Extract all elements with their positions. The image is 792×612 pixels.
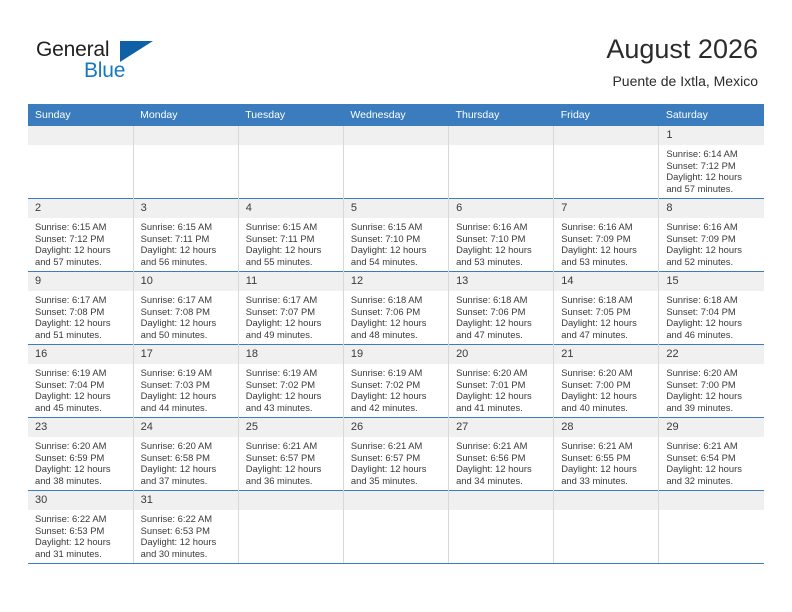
sunrise-text: Sunrise: 6:19 AM	[246, 367, 337, 379]
sunrise-text: Sunrise: 6:20 AM	[561, 367, 652, 379]
calendar-day-cell[interactable]: 11Sunrise: 6:17 AMSunset: 7:07 PMDayligh…	[238, 272, 343, 345]
day-number: 27	[449, 418, 553, 437]
sun-info-block: Sunrise: 6:14 AMSunset: 7:12 PMDaylight:…	[659, 145, 764, 194]
calendar-day-cell[interactable]: 7Sunrise: 6:16 AMSunset: 7:09 PMDaylight…	[554, 199, 659, 272]
day-number: 24	[134, 418, 238, 437]
daylight-text: Daylight: 12 hours	[35, 463, 127, 475]
calendar-page: General Blue August 2026 Puente de Ixtla…	[0, 0, 792, 612]
sunrise-text: Sunrise: 6:21 AM	[246, 440, 337, 452]
daylight-text: Daylight: 12 hours	[35, 317, 127, 329]
day-number: 12	[344, 272, 448, 291]
day-number: 19	[344, 345, 448, 364]
daylight-text: Daylight: 12 hours	[246, 244, 337, 256]
sunset-text: Sunset: 6:56 PM	[456, 452, 547, 464]
calendar-cell-empty	[343, 491, 448, 564]
sunrise-text: Sunrise: 6:16 AM	[666, 221, 758, 233]
calendar-day-cell[interactable]: 1Sunrise: 6:14 AMSunset: 7:12 PMDaylight…	[659, 126, 764, 199]
daylight-text: Daylight: 12 hours	[246, 317, 337, 329]
day-number: 31	[134, 491, 238, 510]
day-number	[344, 126, 448, 145]
daylight-text-cont: and 47 minutes.	[561, 329, 652, 341]
sunset-text: Sunset: 7:09 PM	[561, 233, 652, 245]
weekday-header-tuesday: Tuesday	[238, 104, 343, 126]
sun-info-block: Sunrise: 6:19 AMSunset: 7:04 PMDaylight:…	[28, 364, 133, 413]
calendar-week-row: 1Sunrise: 6:14 AMSunset: 7:12 PMDaylight…	[28, 126, 764, 199]
sunset-text: Sunset: 6:58 PM	[141, 452, 232, 464]
sunrise-text: Sunrise: 6:20 AM	[141, 440, 232, 452]
calendar-day-cell[interactable]: 14Sunrise: 6:18 AMSunset: 7:05 PMDayligh…	[554, 272, 659, 345]
day-number: 5	[344, 199, 448, 218]
sun-info-block: Sunrise: 6:21 AMSunset: 6:54 PMDaylight:…	[659, 437, 764, 486]
sun-info-block: Sunrise: 6:16 AMSunset: 7:10 PMDaylight:…	[449, 218, 553, 267]
day-number: 18	[239, 345, 343, 364]
day-number	[449, 491, 553, 510]
daylight-text-cont: and 41 minutes.	[456, 402, 547, 414]
calendar-table: SundayMondayTuesdayWednesdayThursdayFrid…	[28, 104, 764, 564]
calendar-week-row: 23Sunrise: 6:20 AMSunset: 6:59 PMDayligh…	[28, 418, 764, 491]
calendar-day-cell[interactable]: 15Sunrise: 6:18 AMSunset: 7:04 PMDayligh…	[659, 272, 764, 345]
sunset-text: Sunset: 6:54 PM	[666, 452, 758, 464]
sunset-text: Sunset: 7:06 PM	[456, 306, 547, 318]
calendar-day-cell[interactable]: 6Sunrise: 6:16 AMSunset: 7:10 PMDaylight…	[449, 199, 554, 272]
calendar-day-cell[interactable]: 21Sunrise: 6:20 AMSunset: 7:00 PMDayligh…	[554, 345, 659, 418]
sunrise-text: Sunrise: 6:22 AM	[35, 513, 127, 525]
sun-info-block: Sunrise: 6:19 AMSunset: 7:02 PMDaylight:…	[344, 364, 448, 413]
sun-info-block: Sunrise: 6:21 AMSunset: 6:56 PMDaylight:…	[449, 437, 553, 486]
day-number: 23	[28, 418, 133, 437]
daylight-text-cont: and 33 minutes.	[561, 475, 652, 487]
weekday-header-sunday: Sunday	[28, 104, 133, 126]
sunset-text: Sunset: 6:53 PM	[35, 525, 127, 537]
daylight-text-cont: and 34 minutes.	[456, 475, 547, 487]
daylight-text: Daylight: 12 hours	[561, 463, 652, 475]
sun-info-block: Sunrise: 6:15 AMSunset: 7:12 PMDaylight:…	[28, 218, 133, 267]
sun-info-block: Sunrise: 6:22 AMSunset: 6:53 PMDaylight:…	[28, 510, 133, 559]
day-number: 8	[659, 199, 764, 218]
calendar-cell-empty	[343, 126, 448, 199]
sun-info-block: Sunrise: 6:15 AMSunset: 7:10 PMDaylight:…	[344, 218, 448, 267]
sunrise-text: Sunrise: 6:21 AM	[666, 440, 758, 452]
daylight-text: Daylight: 12 hours	[561, 317, 652, 329]
sunset-text: Sunset: 7:08 PM	[35, 306, 127, 318]
sun-info-block: Sunrise: 6:17 AMSunset: 7:08 PMDaylight:…	[134, 291, 238, 340]
daylight-text: Daylight: 12 hours	[141, 317, 232, 329]
sunrise-text: Sunrise: 6:19 AM	[141, 367, 232, 379]
calendar-day-cell[interactable]: 13Sunrise: 6:18 AMSunset: 7:06 PMDayligh…	[449, 272, 554, 345]
calendar-day-cell[interactable]: 20Sunrise: 6:20 AMSunset: 7:01 PMDayligh…	[449, 345, 554, 418]
daylight-text-cont: and 49 minutes.	[246, 329, 337, 341]
sun-info-block: Sunrise: 6:15 AMSunset: 7:11 PMDaylight:…	[239, 218, 343, 267]
sun-info-block: Sunrise: 6:20 AMSunset: 6:58 PMDaylight:…	[134, 437, 238, 486]
calendar-cell-empty	[238, 126, 343, 199]
daylight-text: Daylight: 12 hours	[35, 390, 127, 402]
sunset-text: Sunset: 7:10 PM	[351, 233, 442, 245]
daylight-text-cont: and 55 minutes.	[246, 256, 337, 268]
day-number: 6	[449, 199, 553, 218]
daylight-text-cont: and 42 minutes.	[351, 402, 442, 414]
calendar-day-cell[interactable]: 24Sunrise: 6:20 AMSunset: 6:58 PMDayligh…	[133, 418, 238, 491]
sunrise-text: Sunrise: 6:21 AM	[456, 440, 547, 452]
day-number	[28, 126, 133, 145]
sun-info-block: Sunrise: 6:17 AMSunset: 7:08 PMDaylight:…	[28, 291, 133, 340]
sun-info-block: Sunrise: 6:21 AMSunset: 6:57 PMDaylight:…	[344, 437, 448, 486]
sun-info-block: Sunrise: 6:22 AMSunset: 6:53 PMDaylight:…	[134, 510, 238, 559]
sunrise-text: Sunrise: 6:20 AM	[456, 367, 547, 379]
sunset-text: Sunset: 7:11 PM	[141, 233, 232, 245]
day-number: 17	[134, 345, 238, 364]
daylight-text-cont: and 45 minutes.	[35, 402, 127, 414]
daylight-text-cont: and 37 minutes.	[141, 475, 232, 487]
calendar-day-cell[interactable]: 23Sunrise: 6:20 AMSunset: 6:59 PMDayligh…	[28, 418, 133, 491]
calendar-day-cell[interactable]: 30Sunrise: 6:22 AMSunset: 6:53 PMDayligh…	[28, 491, 133, 564]
sunset-text: Sunset: 6:57 PM	[351, 452, 442, 464]
calendar-day-cell[interactable]: 8Sunrise: 6:16 AMSunset: 7:09 PMDaylight…	[659, 199, 764, 272]
daylight-text: Daylight: 12 hours	[35, 536, 127, 548]
day-number: 28	[554, 418, 658, 437]
calendar-day-cell[interactable]: 22Sunrise: 6:20 AMSunset: 7:00 PMDayligh…	[659, 345, 764, 418]
sunset-text: Sunset: 7:10 PM	[456, 233, 547, 245]
sun-info-block: Sunrise: 6:20 AMSunset: 7:00 PMDaylight:…	[554, 364, 658, 413]
sunset-text: Sunset: 7:12 PM	[35, 233, 127, 245]
sunset-text: Sunset: 6:55 PM	[561, 452, 652, 464]
day-number: 13	[449, 272, 553, 291]
daylight-text-cont: and 50 minutes.	[141, 329, 232, 341]
page-header: General Blue August 2026 Puente de Ixtla…	[0, 0, 792, 100]
day-number	[449, 126, 553, 145]
daylight-text-cont: and 38 minutes.	[35, 475, 127, 487]
day-number: 26	[344, 418, 448, 437]
daylight-text: Daylight: 12 hours	[666, 463, 758, 475]
calendar-cell-empty	[133, 126, 238, 199]
day-number: 21	[554, 345, 658, 364]
daylight-text-cont: and 54 minutes.	[351, 256, 442, 268]
daylight-text-cont: and 36 minutes.	[246, 475, 337, 487]
calendar-cell-empty	[449, 126, 554, 199]
daylight-text: Daylight: 12 hours	[666, 390, 758, 402]
daylight-text: Daylight: 12 hours	[246, 390, 337, 402]
sunset-text: Sunset: 7:04 PM	[35, 379, 127, 391]
day-number: 30	[28, 491, 133, 510]
title-block: August 2026 Puente de Ixtla, Mexico	[606, 32, 758, 92]
sunset-text: Sunset: 7:04 PM	[666, 306, 758, 318]
sun-info-block: Sunrise: 6:21 AMSunset: 6:55 PMDaylight:…	[554, 437, 658, 486]
sunset-text: Sunset: 7:02 PM	[351, 379, 442, 391]
daylight-text: Daylight: 12 hours	[666, 171, 758, 183]
day-number: 3	[134, 199, 238, 218]
daylight-text-cont: and 56 minutes.	[141, 256, 232, 268]
calendar-cell-empty	[28, 126, 133, 199]
sunrise-text: Sunrise: 6:18 AM	[666, 294, 758, 306]
weekday-header-saturday: Saturday	[659, 104, 764, 126]
sunrise-text: Sunrise: 6:17 AM	[35, 294, 127, 306]
sunset-text: Sunset: 7:00 PM	[561, 379, 652, 391]
day-number: 15	[659, 272, 764, 291]
sun-info-block: Sunrise: 6:16 AMSunset: 7:09 PMDaylight:…	[554, 218, 658, 267]
daylight-text-cont: and 51 minutes.	[35, 329, 127, 341]
sun-info-block: Sunrise: 6:20 AMSunset: 6:59 PMDaylight:…	[28, 437, 133, 486]
day-number: 25	[239, 418, 343, 437]
daylight-text: Daylight: 12 hours	[666, 317, 758, 329]
logo-text-blue: Blue	[84, 59, 125, 83]
calendar-day-cell[interactable]: 17Sunrise: 6:19 AMSunset: 7:03 PMDayligh…	[133, 345, 238, 418]
daylight-text: Daylight: 12 hours	[351, 463, 442, 475]
daylight-text: Daylight: 12 hours	[141, 536, 232, 548]
day-number: 10	[134, 272, 238, 291]
sunset-text: Sunset: 7:03 PM	[141, 379, 232, 391]
sunrise-text: Sunrise: 6:15 AM	[141, 221, 232, 233]
calendar-body: 1Sunrise: 6:14 AMSunset: 7:12 PMDaylight…	[28, 126, 764, 564]
sunrise-text: Sunrise: 6:21 AM	[561, 440, 652, 452]
calendar-day-cell[interactable]: 3Sunrise: 6:15 AMSunset: 7:11 PMDaylight…	[133, 199, 238, 272]
calendar-day-cell[interactable]: 16Sunrise: 6:19 AMSunset: 7:04 PMDayligh…	[28, 345, 133, 418]
weekday-header-friday: Friday	[554, 104, 659, 126]
general-blue-logo[interactable]: General Blue	[36, 38, 176, 90]
weekday-header-thursday: Thursday	[449, 104, 554, 126]
daylight-text-cont: and 53 minutes.	[456, 256, 547, 268]
daylight-text-cont: and 39 minutes.	[666, 402, 758, 414]
sunrise-text: Sunrise: 6:15 AM	[351, 221, 442, 233]
day-number: 9	[28, 272, 133, 291]
sunset-text: Sunset: 7:02 PM	[246, 379, 337, 391]
calendar-day-cell[interactable]: 29Sunrise: 6:21 AMSunset: 6:54 PMDayligh…	[659, 418, 764, 491]
sun-info-block: Sunrise: 6:18 AMSunset: 7:06 PMDaylight:…	[344, 291, 448, 340]
sunset-text: Sunset: 7:06 PM	[351, 306, 442, 318]
daylight-text-cont: and 43 minutes.	[246, 402, 337, 414]
sun-info-block: Sunrise: 6:20 AMSunset: 7:01 PMDaylight:…	[449, 364, 553, 413]
day-number: 20	[449, 345, 553, 364]
calendar-cell-empty	[659, 491, 764, 564]
day-number	[344, 491, 448, 510]
sunrise-text: Sunrise: 6:17 AM	[246, 294, 337, 306]
day-number	[554, 126, 658, 145]
sun-info-block: Sunrise: 6:21 AMSunset: 6:57 PMDaylight:…	[239, 437, 343, 486]
calendar-day-cell[interactable]: 5Sunrise: 6:15 AMSunset: 7:10 PMDaylight…	[343, 199, 448, 272]
day-number: 7	[554, 199, 658, 218]
sun-info-block: Sunrise: 6:19 AMSunset: 7:02 PMDaylight:…	[239, 364, 343, 413]
sun-info-block: Sunrise: 6:18 AMSunset: 7:04 PMDaylight:…	[659, 291, 764, 340]
sunrise-text: Sunrise: 6:22 AM	[141, 513, 232, 525]
sunrise-text: Sunrise: 6:18 AM	[351, 294, 442, 306]
daylight-text-cont: and 47 minutes.	[456, 329, 547, 341]
daylight-text-cont: and 40 minutes.	[561, 402, 652, 414]
daylight-text-cont: and 31 minutes.	[35, 548, 127, 560]
daylight-text: Daylight: 12 hours	[456, 390, 547, 402]
day-number: 4	[239, 199, 343, 218]
day-number: 16	[28, 345, 133, 364]
calendar-day-cell[interactable]: 12Sunrise: 6:18 AMSunset: 7:06 PMDayligh…	[343, 272, 448, 345]
calendar-cell-empty	[554, 491, 659, 564]
daylight-text: Daylight: 12 hours	[456, 244, 547, 256]
calendar-day-cell[interactable]: 19Sunrise: 6:19 AMSunset: 7:02 PMDayligh…	[343, 345, 448, 418]
calendar-day-cell[interactable]: 4Sunrise: 6:15 AMSunset: 7:11 PMDaylight…	[238, 199, 343, 272]
calendar-day-cell[interactable]: 2Sunrise: 6:15 AMSunset: 7:12 PMDaylight…	[28, 199, 133, 272]
sunrise-text: Sunrise: 6:20 AM	[35, 440, 127, 452]
sunrise-text: Sunrise: 6:16 AM	[456, 221, 547, 233]
calendar-week-row: 16Sunrise: 6:19 AMSunset: 7:04 PMDayligh…	[28, 345, 764, 418]
daylight-text: Daylight: 12 hours	[35, 244, 127, 256]
day-number	[239, 126, 343, 145]
calendar-week-row: 30Sunrise: 6:22 AMSunset: 6:53 PMDayligh…	[28, 491, 764, 564]
calendar-cell-empty	[554, 126, 659, 199]
sunrise-text: Sunrise: 6:17 AM	[141, 294, 232, 306]
daylight-text: Daylight: 12 hours	[666, 244, 758, 256]
weekday-header-wednesday: Wednesday	[343, 104, 448, 126]
daylight-text: Daylight: 12 hours	[351, 317, 442, 329]
day-number: 22	[659, 345, 764, 364]
daylight-text-cont: and 52 minutes.	[666, 256, 758, 268]
daylight-text-cont: and 35 minutes.	[351, 475, 442, 487]
sun-info-block: Sunrise: 6:20 AMSunset: 7:00 PMDaylight:…	[659, 364, 764, 413]
sunset-text: Sunset: 6:53 PM	[141, 525, 232, 537]
calendar-cell-empty	[238, 491, 343, 564]
daylight-text-cont: and 57 minutes.	[666, 183, 758, 195]
day-number: 14	[554, 272, 658, 291]
sunrise-text: Sunrise: 6:19 AM	[35, 367, 127, 379]
calendar-day-cell[interactable]: 26Sunrise: 6:21 AMSunset: 6:57 PMDayligh…	[343, 418, 448, 491]
sun-info-block: Sunrise: 6:18 AMSunset: 7:05 PMDaylight:…	[554, 291, 658, 340]
sunset-text: Sunset: 7:08 PM	[141, 306, 232, 318]
daylight-text: Daylight: 12 hours	[456, 317, 547, 329]
daylight-text: Daylight: 12 hours	[141, 463, 232, 475]
daylight-text-cont: and 44 minutes.	[141, 402, 232, 414]
sunset-text: Sunset: 6:59 PM	[35, 452, 127, 464]
sunrise-text: Sunrise: 6:15 AM	[35, 221, 127, 233]
day-number	[554, 491, 658, 510]
day-number	[239, 491, 343, 510]
daylight-text: Daylight: 12 hours	[351, 390, 442, 402]
calendar-day-cell[interactable]: 25Sunrise: 6:21 AMSunset: 6:57 PMDayligh…	[238, 418, 343, 491]
weekday-header-monday: Monday	[133, 104, 238, 126]
day-number: 2	[28, 199, 133, 218]
calendar-week-row: 9Sunrise: 6:17 AMSunset: 7:08 PMDaylight…	[28, 272, 764, 345]
daylight-text-cont: and 57 minutes.	[35, 256, 127, 268]
calendar-day-cell[interactable]: 9Sunrise: 6:17 AMSunset: 7:08 PMDaylight…	[28, 272, 133, 345]
day-number: 1	[659, 126, 764, 145]
sunrise-text: Sunrise: 6:20 AM	[666, 367, 758, 379]
calendar-day-cell[interactable]: 31Sunrise: 6:22 AMSunset: 6:53 PMDayligh…	[133, 491, 238, 564]
sun-info-block: Sunrise: 6:15 AMSunset: 7:11 PMDaylight:…	[134, 218, 238, 267]
daylight-text-cont: and 32 minutes.	[666, 475, 758, 487]
sunrise-text: Sunrise: 6:18 AM	[561, 294, 652, 306]
calendar-week-row: 2Sunrise: 6:15 AMSunset: 7:12 PMDaylight…	[28, 199, 764, 272]
daylight-text-cont: and 53 minutes.	[561, 256, 652, 268]
calendar-day-cell[interactable]: 27Sunrise: 6:21 AMSunset: 6:56 PMDayligh…	[449, 418, 554, 491]
daylight-text: Daylight: 12 hours	[351, 244, 442, 256]
sunset-text: Sunset: 7:12 PM	[666, 160, 758, 172]
sunrise-text: Sunrise: 6:14 AM	[666, 148, 758, 160]
sun-info-block: Sunrise: 6:17 AMSunset: 7:07 PMDaylight:…	[239, 291, 343, 340]
daylight-text-cont: and 30 minutes.	[141, 548, 232, 560]
daylight-text: Daylight: 12 hours	[141, 390, 232, 402]
day-number	[134, 126, 238, 145]
sunrise-text: Sunrise: 6:15 AM	[246, 221, 337, 233]
daylight-text: Daylight: 12 hours	[456, 463, 547, 475]
daylight-text: Daylight: 12 hours	[561, 244, 652, 256]
daylight-text: Daylight: 12 hours	[141, 244, 232, 256]
day-number	[659, 491, 764, 510]
sunrise-text: Sunrise: 6:19 AM	[351, 367, 442, 379]
day-number: 11	[239, 272, 343, 291]
sunset-text: Sunset: 6:57 PM	[246, 452, 337, 464]
page-title: August 2026	[606, 32, 758, 66]
calendar-cell-empty	[449, 491, 554, 564]
sun-info-block: Sunrise: 6:18 AMSunset: 7:06 PMDaylight:…	[449, 291, 553, 340]
daylight-text: Daylight: 12 hours	[561, 390, 652, 402]
sunrise-text: Sunrise: 6:21 AM	[351, 440, 442, 452]
calendar-day-cell[interactable]: 18Sunrise: 6:19 AMSunset: 7:02 PMDayligh…	[238, 345, 343, 418]
calendar-header-row: SundayMondayTuesdayWednesdayThursdayFrid…	[28, 104, 764, 126]
sunrise-text: Sunrise: 6:16 AM	[561, 221, 652, 233]
sun-info-block: Sunrise: 6:19 AMSunset: 7:03 PMDaylight:…	[134, 364, 238, 413]
calendar-day-cell[interactable]: 10Sunrise: 6:17 AMSunset: 7:08 PMDayligh…	[133, 272, 238, 345]
day-number: 29	[659, 418, 764, 437]
sunset-text: Sunset: 7:00 PM	[666, 379, 758, 391]
sunset-text: Sunset: 7:09 PM	[666, 233, 758, 245]
calendar-day-cell[interactable]: 28Sunrise: 6:21 AMSunset: 6:55 PMDayligh…	[554, 418, 659, 491]
daylight-text-cont: and 48 minutes.	[351, 329, 442, 341]
sunset-text: Sunset: 7:11 PM	[246, 233, 337, 245]
sunset-text: Sunset: 7:05 PM	[561, 306, 652, 318]
sunset-text: Sunset: 7:07 PM	[246, 306, 337, 318]
sunset-text: Sunset: 7:01 PM	[456, 379, 547, 391]
daylight-text: Daylight: 12 hours	[246, 463, 337, 475]
sunrise-text: Sunrise: 6:18 AM	[456, 294, 547, 306]
sun-info-block: Sunrise: 6:16 AMSunset: 7:09 PMDaylight:…	[659, 218, 764, 267]
page-subtitle: Puente de Ixtla, Mexico	[606, 70, 758, 92]
daylight-text-cont: and 46 minutes.	[666, 329, 758, 341]
